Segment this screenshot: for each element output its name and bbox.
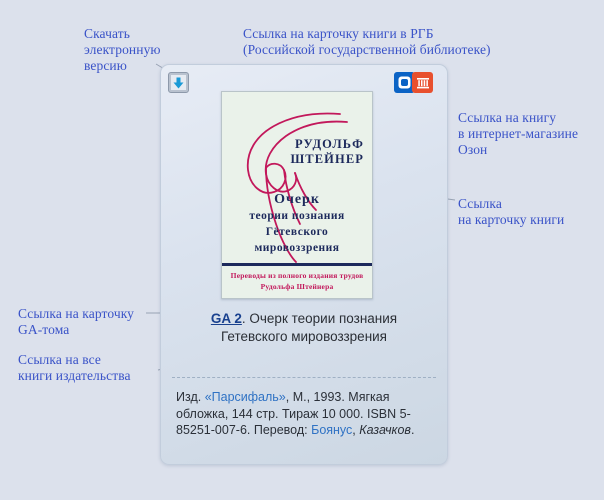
cover-title-line4: мировоззрения: [228, 240, 366, 256]
section-divider: [172, 377, 436, 378]
biblio-suffix: .: [411, 423, 414, 437]
annotation-rgb: Ссылка на карточку книги в РГБ (Российск…: [243, 26, 491, 58]
cover-divider-rule: [222, 263, 372, 266]
publisher-link[interactable]: «Парсифаль»: [205, 390, 286, 404]
download-icon[interactable]: [168, 72, 189, 93]
library-building-icon: [416, 76, 430, 90]
translator-link-1[interactable]: Боянус: [311, 423, 352, 437]
annotation-ga-card: Ссылка на карточку GA-тома: [18, 306, 134, 338]
biblio-prefix: Изд.: [176, 390, 205, 404]
cover-author: РУДОЛЬФ ШТЕЙНЕР: [222, 137, 364, 167]
annotation-publisher: Ссылка на все книги издательства: [18, 352, 131, 384]
cover-title: Очерк теории познания Гётевского мировоз…: [228, 192, 366, 256]
book-title-line2: Гетевского мировоззрения: [221, 329, 387, 344]
ga-volume-link[interactable]: GA 2: [211, 311, 242, 326]
book-cover-image[interactable]: РУДОЛЬФ ШТЕЙНЕР Очерк теории познания Гё…: [221, 91, 373, 299]
translator-name-2: Казачков: [359, 423, 411, 437]
cover-footer: Переводы из полного издания трудов Рудол…: [226, 270, 368, 292]
cover-title-line3: Гётевского: [228, 224, 366, 240]
annotation-ozon: Ссылка на книгу в интернет-магазине Озон: [458, 110, 578, 158]
book-heading: GA 2. Очерк теории познания Гетевского м…: [176, 310, 432, 346]
bibliographic-info: Изд. «Парсифаль», М., 1993. Мягкая облож…: [176, 389, 426, 439]
rgb-library-icon[interactable]: [412, 72, 433, 93]
download-icon-inner: [171, 75, 186, 90]
annotation-download: Скачать электронную версию: [84, 26, 161, 74]
ozon-glyph-icon: [398, 76, 411, 89]
book-title-rest: . Очерк теории познания: [242, 311, 397, 326]
annotation-book-card: Ссылка на карточку книги: [458, 196, 564, 228]
download-arrow-icon: [173, 77, 184, 89]
cover-title-line2: теории познания: [228, 208, 366, 224]
cover-title-line1: Очерк: [228, 192, 366, 208]
